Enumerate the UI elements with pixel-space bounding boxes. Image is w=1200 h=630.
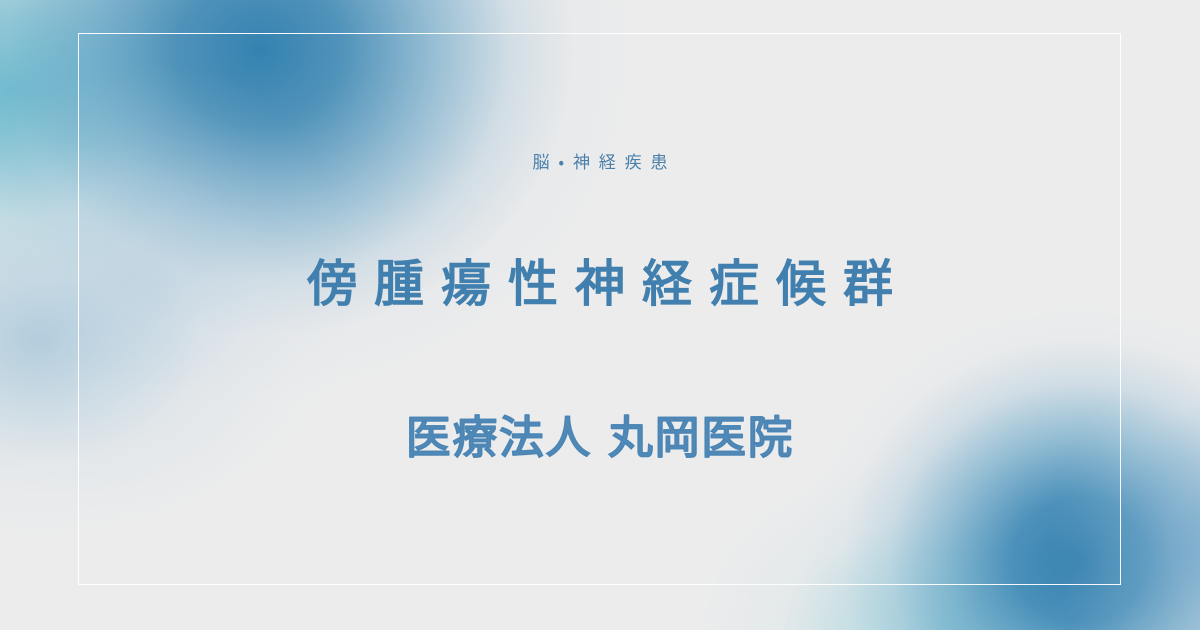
organization-name: 医療法人 丸岡医院 <box>406 410 794 466</box>
page-title: 傍腫瘍性神経症候群 <box>290 254 910 315</box>
title-card-content: 脳・神経疾患 傍腫瘍性神経症候群 医療法人 丸岡医院 <box>0 0 1200 630</box>
og-image-canvas: 脳・神経疾患 傍腫瘍性神経症候群 医療法人 丸岡医院 <box>0 0 1200 630</box>
category-eyebrow: 脳・神経疾患 <box>524 152 677 176</box>
